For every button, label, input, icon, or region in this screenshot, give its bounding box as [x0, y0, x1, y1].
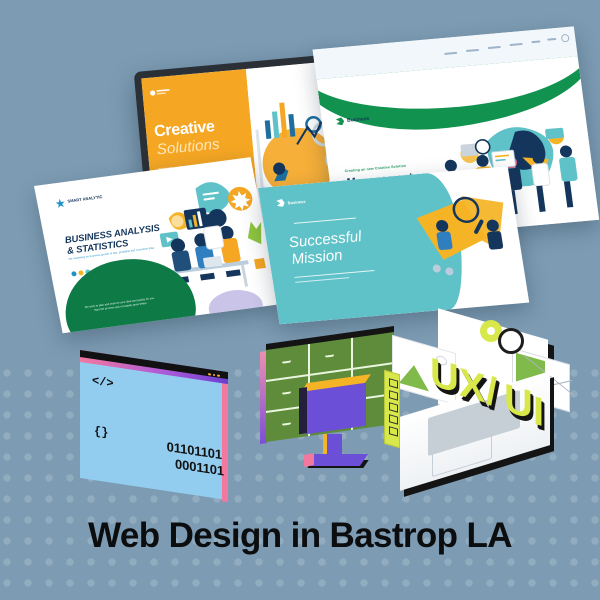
- tm-logo-text: Business: [287, 198, 306, 204]
- code-window-right-bar: [222, 379, 228, 502]
- cabinet-handle-4[interactable]: [282, 422, 291, 425]
- ux-letter-x: X: [459, 362, 486, 410]
- ux-ui-laptop-illustration: U X / U I: [386, 322, 572, 490]
- tool-icon-4[interactable]: [389, 414, 398, 425]
- star-mark-icon: [55, 198, 66, 208]
- bas-logo-text: SMART ANALYTIC: [67, 195, 103, 204]
- page-title: Web Design in Bastrop LA: [0, 516, 600, 556]
- toolbar-panel[interactable]: [384, 370, 400, 449]
- successful-mission-card: Business Successful Mission: [258, 166, 529, 324]
- bas-logo: SMART ANALYTIC: [55, 193, 103, 208]
- cabinet-handle-1[interactable]: [282, 360, 291, 363]
- poster-canvas: Creative Solutions Digital Smart Busines…: [0, 0, 600, 600]
- tool-icon-3[interactable]: [389, 402, 398, 413]
- cabinet-open-drawer[interactable]: [306, 382, 366, 434]
- nav-item-blog[interactable]: [531, 40, 540, 42]
- nav-item-contact[interactable]: [547, 38, 556, 40]
- drawer-side: [299, 387, 307, 434]
- tm-heading: Successful Mission: [288, 229, 366, 268]
- ux-letter-u: U: [430, 352, 459, 400]
- search-icon[interactable]: [561, 34, 570, 43]
- filing-cabinet-monitor-illustration: [258, 342, 396, 484]
- code-window-illustration: </> {} 01101101 0001101: [80, 350, 228, 502]
- tool-icon-1[interactable]: [389, 378, 398, 389]
- arrow-mark-icon: [276, 199, 285, 208]
- mgmt-logo-text: Business: [347, 116, 370, 124]
- curly-brace-icon: {}: [94, 424, 108, 440]
- ux-letter-u2: U: [504, 378, 533, 426]
- cabinet-handle-2[interactable]: [325, 354, 334, 357]
- image-icon: [399, 361, 429, 392]
- tm-illustration: [400, 166, 529, 312]
- ux-letter-i: I: [533, 390, 544, 433]
- nav-item-home[interactable]: [444, 52, 457, 55]
- tool-icon-2[interactable]: [389, 390, 398, 401]
- cabinet-handle-3[interactable]: [282, 391, 291, 394]
- business-analysis-statistics-card: SMART ANALYTIC BUSINESS ANALYSIS & STATI…: [34, 157, 279, 333]
- arrow-mark-icon: [336, 117, 345, 126]
- monitor-base-accent: [304, 453, 314, 467]
- gear-icon: [498, 328, 524, 354]
- ux-letter-slash: /: [486, 370, 497, 413]
- creative-logo: [149, 82, 172, 91]
- cabinet-hline-1: [266, 362, 394, 382]
- nav-item-services[interactable]: [488, 46, 501, 49]
- nav-item-pages[interactable]: [510, 43, 523, 46]
- tool-icon-5[interactable]: [389, 426, 398, 437]
- nav-item-about[interactable]: [466, 49, 479, 52]
- dot-blue-icon: [71, 271, 77, 277]
